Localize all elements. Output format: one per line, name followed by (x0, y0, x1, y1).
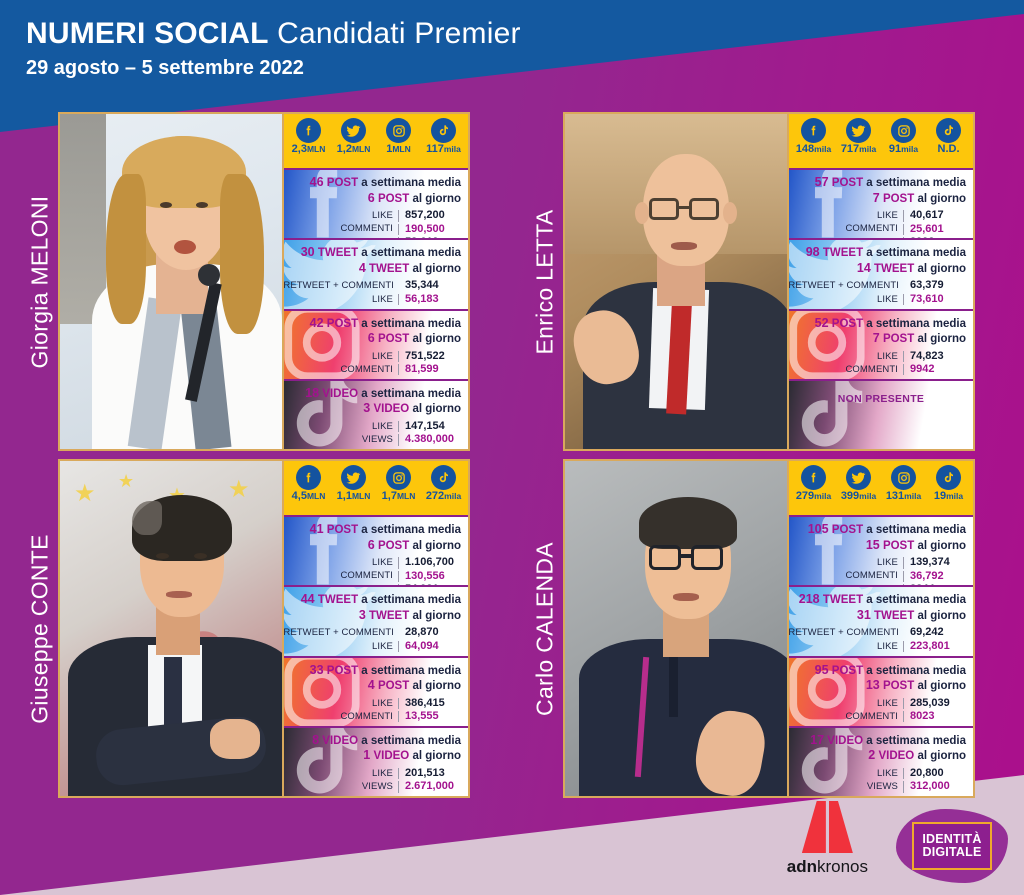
adnkronos-mark-right (829, 801, 853, 853)
follower-count: N.D. (938, 144, 960, 155)
metric-block-twitter: 98 TWEET a settimana media14 TWEET al gi… (789, 238, 973, 308)
metric-value: 386,415 (399, 697, 461, 710)
metric-block-tiktok: NON PRESENTE (789, 379, 973, 449)
metric-row: VIEWS4.380,000 (284, 433, 461, 446)
metric-label: COMMENTI (845, 364, 903, 376)
weekly-unit: TWEET (318, 247, 358, 259)
metric-label: VIEWS (867, 781, 903, 793)
follower-item-twitter[interactable]: 399mila (836, 465, 881, 502)
daily-count: 14 (857, 261, 871, 275)
metric-value: 20,800 (904, 767, 966, 780)
metric-rows: RETWEET + COMMENTI69,242LIKE223,801 (789, 626, 966, 653)
daily-unit: TWEET (874, 263, 914, 275)
metric-value: 130,556 (399, 570, 461, 583)
daily-count: 2 (868, 748, 875, 762)
candidate-panel: 2,3MLN1,2MLN1MLN117mila46 POST a settima… (58, 112, 470, 451)
follower-item-facebook[interactable]: 4,5MLN (286, 465, 331, 502)
metric-row: LIKE56,183 (284, 293, 461, 306)
daily-unit: TWEET (874, 610, 914, 622)
follower-count: 4,5MLN (292, 491, 326, 502)
metric-block-twitter: 218 TWEET a settimana media31 TWEET al g… (789, 585, 973, 655)
follower-count: 1MLN (386, 144, 411, 155)
candidate-name-text: Carlo CALENDA (532, 542, 559, 716)
block-content: 18 VIDEO a settimana media3 VIDEO al gio… (284, 381, 468, 447)
weekly-count: 30 (301, 245, 315, 259)
metric-row: CONDIVISIONI2992 (789, 236, 966, 238)
weekly-unit: POST (832, 177, 863, 189)
daily-unit: POST (378, 333, 409, 345)
daily-suffix: al giorno (409, 610, 461, 622)
candidate-name-text: Giorgia MELONI (27, 195, 54, 368)
daily-average: 14 TWEET al giorno (789, 261, 966, 277)
metric-block-instagram: 42 POST a settimana media6 POST al giorn… (284, 309, 468, 379)
metric-row: RETWEET + COMMENTI35,344 (284, 279, 461, 292)
follower-count: 19mila (934, 491, 963, 502)
metric-row: VIEWS2.671,000 (284, 780, 461, 793)
metric-rows: LIKE74,823COMMENTI9942 (789, 350, 966, 377)
follower-item-twitter[interactable]: 1,1MLN (331, 465, 376, 502)
follower-item-twitter[interactable]: 1,2MLN (331, 118, 376, 155)
weekly-average: 46 POST a settimana media (284, 175, 461, 191)
followers-bar: 148mila717mila91milaN.D. (789, 114, 973, 168)
adnkronos-mark-icon (802, 801, 853, 853)
daily-unit: POST (378, 540, 409, 552)
page-title-rest: Candidati Premier (269, 17, 521, 50)
daily-suffix: al giorno (409, 750, 461, 762)
metric-label: COMMENTI (845, 570, 903, 582)
metric-value: 285,039 (904, 697, 966, 710)
metric-row: LIKE386,415 (284, 697, 461, 710)
candidate-stats: 148mila717mila91milaN.D.57 POST a settim… (789, 114, 973, 449)
block-content: 57 POST a settimana media7 POST al giorn… (789, 170, 973, 238)
metric-row: COMMENTI36,792 (789, 570, 966, 583)
block-content: 46 POST a settimana media6 POST al giorn… (284, 170, 468, 238)
daily-average: 1 VIDEO al giorno (284, 748, 461, 764)
metric-row: LIKE74,823 (789, 350, 966, 363)
metric-value: 2.671,000 (399, 780, 461, 793)
facebook-icon (296, 118, 321, 143)
metric-value: 8023 (904, 710, 966, 723)
daily-suffix: al giorno (914, 750, 966, 762)
weekly-unit: TWEET (318, 594, 358, 606)
metric-label: LIKE (372, 641, 398, 653)
daily-count: 7 (873, 191, 880, 205)
weekly-unit: POST (832, 524, 863, 536)
candidate-card: Giorgia MELONI2,3MLN1,2MLN1MLN117mila46 … (22, 112, 470, 451)
metric-row: RETWEET + COMMENTI63,379 (789, 279, 966, 292)
daily-count: 6 (368, 191, 375, 205)
weekly-suffix: a settimana media (358, 177, 461, 189)
daily-average: 4 POST al giorno (284, 678, 461, 694)
footer-logos: adnkronos IDENTITÀ DIGITALE (787, 801, 998, 877)
weekly-average: 52 POST a settimana media (789, 316, 966, 332)
metric-row: RETWEET + COMMENTI69,242 (789, 626, 966, 639)
metric-row: VIEWS312,000 (789, 780, 966, 793)
daily-count: 1 (363, 748, 370, 762)
block-content: 33 POST a settimana media4 POST al giorn… (284, 658, 468, 724)
follower-count: 717mila (841, 144, 876, 155)
daily-unit: POST (883, 333, 914, 345)
follower-count: 91mila (889, 144, 918, 155)
metric-value: 857,200 (399, 209, 461, 222)
metric-row: LIKE751,522 (284, 350, 461, 363)
follower-item-facebook[interactable]: 148mila (791, 118, 836, 155)
daily-count: 4 (368, 678, 375, 692)
follower-item-facebook[interactable]: 2,3MLN (286, 118, 331, 155)
daily-average: 6 POST al giorno (284, 538, 461, 554)
metric-label: COMMENTI (340, 223, 398, 235)
weekly-suffix: a settimana media (863, 735, 966, 747)
metric-label: LIKE (372, 421, 398, 433)
daily-unit: POST (883, 680, 914, 692)
candidate-stats: 279mila399mila131mila19mila105 POST a se… (789, 461, 973, 796)
metric-row: COMMENTI81,599 (284, 363, 461, 376)
daily-average: 13 POST al giorno (789, 678, 966, 694)
weekly-unit: TWEET (823, 594, 863, 606)
weekly-suffix: a settimana media (358, 524, 461, 536)
metric-row: LIKE73,610 (789, 293, 966, 306)
daily-suffix: al giorno (914, 193, 966, 205)
adnkronos-mark-left (802, 801, 826, 853)
daily-count: 6 (368, 538, 375, 552)
metric-value: 35,344 (399, 279, 461, 292)
metric-value: 36,792 (904, 570, 966, 583)
weekly-average: 30 TWEET a settimana media (284, 245, 461, 261)
metric-value: 28,870 (399, 626, 461, 639)
page-title: NUMERI SOCIAL Candidati Premier (26, 18, 521, 50)
metric-rows: LIKE386,415COMMENTI13,555 (284, 697, 461, 724)
metric-label: CONDIVISIONI (831, 584, 903, 585)
weekly-suffix: a settimana media (358, 388, 461, 400)
metric-value: 139,374 (904, 556, 966, 569)
metric-block-facebook: 46 POST a settimana media6 POST al giorn… (284, 168, 468, 238)
metric-value: 73,610 (904, 293, 966, 306)
weekly-suffix: a settimana media (863, 524, 966, 536)
metric-block-tiktok: 17 VIDEO a settimana media2 VIDEO al gio… (789, 726, 973, 796)
weekly-average: 18 VIDEO a settimana media (284, 386, 461, 402)
metric-rows: RETWEET + COMMENTI63,379LIKE73,610 (789, 279, 966, 306)
metric-row: COMMENTI9942 (789, 363, 966, 376)
weekly-average: 218 TWEET a settimana media (789, 592, 966, 608)
metric-label: COMMENTI (845, 711, 903, 723)
follower-count: 2,3MLN (292, 144, 326, 155)
candidate-card: Carlo CALENDA279mila399mila131mila19mila… (527, 459, 975, 798)
daily-count: 3 (363, 401, 370, 415)
daily-suffix: al giorno (914, 263, 966, 275)
daily-average: 2 VIDEO al giorno (789, 748, 966, 764)
follower-item-facebook[interactable]: 279mila (791, 465, 836, 502)
facebook-icon (296, 465, 321, 490)
follower-count: 279mila (796, 491, 831, 502)
not-present-label: NON PRESENTE (789, 381, 973, 405)
daily-count: 3 (359, 608, 366, 622)
metric-label: VIEWS (362, 781, 398, 793)
block-content: 44 TWEET a settimana media3 TWEET al gio… (284, 587, 468, 653)
candidate-name-text: Giuseppe CONTE (27, 534, 54, 724)
instagram-icon (386, 465, 411, 490)
metric-row: CONDIVISIONI54,931 (284, 583, 461, 585)
metric-rows: RETWEET + COMMENTI35,344LIKE56,183 (284, 279, 461, 306)
facebook-icon (801, 118, 826, 143)
candidate-stats: 4,5MLN1,1MLN1,7MLN272mila41 POST a setti… (284, 461, 468, 796)
metric-row: RETWEET + COMMENTI28,870 (284, 626, 461, 639)
weekly-unit: POST (327, 177, 358, 189)
metric-rows: RETWEET + COMMENTI28,870LIKE64,094 (284, 626, 461, 653)
metric-value: 312,000 (904, 780, 966, 793)
weekly-suffix: a settimana media (863, 594, 966, 606)
tiktok-icon (936, 118, 961, 143)
daily-suffix: al giorno (914, 680, 966, 692)
metric-block-instagram: 95 POST a settimana media13 POST al gior… (789, 656, 973, 726)
metric-row: LIKE857,200 (284, 209, 461, 222)
follower-item-instagram[interactable]: 91mila (881, 118, 926, 155)
instagram-icon (386, 118, 411, 143)
candidate-photo (565, 461, 789, 796)
metric-label: LIKE (372, 210, 398, 222)
follower-item-instagram[interactable]: 1MLN (376, 118, 421, 155)
metric-rows: LIKE1.106,700COMMENTI130,556CONDIVISIONI… (284, 556, 461, 585)
weekly-unit: POST (327, 318, 358, 330)
weekly-count: 57 (815, 175, 829, 189)
tiktok-icon (431, 465, 456, 490)
metric-value: 63,379 (904, 279, 966, 292)
metric-value: 8844 (904, 583, 966, 585)
metric-row: LIKE20,800 (789, 767, 966, 780)
weekly-average: 105 POST a settimana media (789, 522, 966, 538)
weekly-suffix: a settimana media (863, 665, 966, 677)
candidate-name-text: Enrico LETTA (532, 209, 559, 354)
weekly-average: 98 TWEET a settimana media (789, 245, 966, 261)
follower-item-tiktok[interactable]: N.D. (926, 118, 971, 155)
metric-label: COMMENTI (340, 711, 398, 723)
weekly-count: 17 (810, 733, 824, 747)
metric-block-instagram: 33 POST a settimana media4 POST al giorn… (284, 656, 468, 726)
weekly-average: 44 TWEET a settimana media (284, 592, 461, 608)
weekly-count: 95 (815, 663, 829, 677)
weekly-count: 8 (312, 733, 319, 747)
daily-suffix: al giorno (914, 333, 966, 345)
metric-label: LIKE (372, 768, 398, 780)
metric-row: LIKE285,039 (789, 697, 966, 710)
daily-unit: TWEET (369, 610, 409, 622)
daily-average: 3 VIDEO al giorno (284, 401, 461, 417)
follower-count: 1,1MLN (337, 491, 371, 502)
instagram-icon (891, 465, 916, 490)
weekly-suffix: a settimana media (358, 318, 461, 330)
metric-value: 1.106,700 (399, 556, 461, 569)
metric-value: 147,154 (399, 420, 461, 433)
adnkronos-wordmark: adnkronos (787, 857, 868, 877)
candidate-panel: 148mila717mila91milaN.D.57 POST a settim… (563, 112, 975, 451)
weekly-count: 46 (310, 175, 324, 189)
weekly-average: 33 POST a settimana media (284, 663, 461, 679)
metric-label: LIKE (877, 641, 903, 653)
metric-label: RETWEET + COMMENTI (284, 280, 399, 292)
candidate-card: Enrico LETTA148mila717mila91milaN.D.57 P… (527, 112, 975, 451)
block-content: 98 TWEET a settimana media14 TWEET al gi… (789, 240, 973, 306)
header: NUMERI SOCIAL Candidati Premier 29 agost… (26, 18, 521, 80)
metric-block-tiktok: 8 VIDEO a settimana media1 VIDEO al gior… (284, 726, 468, 796)
metric-value: 81,599 (399, 363, 461, 376)
metric-label: LIKE (877, 768, 903, 780)
metric-block-twitter: 44 TWEET a settimana media3 TWEET al gio… (284, 585, 468, 655)
weekly-suffix: a settimana media (358, 247, 461, 259)
daily-count: 31 (857, 608, 871, 622)
weekly-count: 105 (808, 522, 829, 536)
daily-count: 7 (873, 331, 880, 345)
candidate-name-label: Giorgia MELONI (22, 112, 58, 451)
follower-item-instagram[interactable]: 1,7MLN (376, 465, 421, 502)
metric-row: LIKE147,154 (284, 420, 461, 433)
block-content: 105 POST a settimana media15 POST al gio… (789, 517, 973, 585)
daily-unit: POST (883, 193, 914, 205)
metric-row: LIKE223,801 (789, 640, 966, 653)
metric-value: 69,242 (904, 626, 966, 639)
daily-average: 6 POST al giorno (284, 331, 461, 347)
weekly-count: 52 (815, 316, 829, 330)
daily-suffix: al giorno (409, 333, 461, 345)
metric-label: CONDIVISIONI (831, 237, 903, 238)
metric-value: 13,555 (399, 710, 461, 723)
followers-bar: 4,5MLN1,1MLN1,7MLN272mila (284, 461, 468, 515)
daily-suffix: al giorno (409, 263, 461, 275)
daily-count: 6 (368, 331, 375, 345)
metric-label: COMMENTI (845, 223, 903, 235)
adnkronos-wordmark-bold: adn (787, 857, 817, 876)
block-content: 52 POST a settimana media7 POST al giorn… (789, 311, 973, 377)
daily-average: 3 TWEET al giorno (284, 608, 461, 624)
metric-value: 9942 (904, 363, 966, 376)
daily-average: 15 POST al giorno (789, 538, 966, 554)
metric-block-facebook: 41 POST a settimana media6 POST al giorn… (284, 515, 468, 585)
candidate-photo (565, 114, 789, 449)
metric-label: LIKE (877, 210, 903, 222)
weekly-count: 98 (806, 245, 820, 259)
follower-item-tiktok[interactable]: 117mila (421, 118, 466, 155)
daily-unit: TWEET (369, 263, 409, 275)
daily-unit: VIDEO (373, 403, 409, 415)
weekly-suffix: a settimana media (863, 318, 966, 330)
followers-bar: 279mila399mila131mila19mila (789, 461, 973, 515)
daily-count: 4 (359, 261, 366, 275)
metric-label: COMMENTI (340, 364, 398, 376)
metric-row: LIKE64,094 (284, 640, 461, 653)
weekly-unit: POST (327, 665, 358, 677)
metric-row: LIKE1.106,700 (284, 556, 461, 569)
candidate-photo (60, 114, 284, 449)
metric-rows: LIKE751,522COMMENTI81,599 (284, 350, 461, 377)
metric-row: LIKE139,374 (789, 556, 966, 569)
weekly-average: 8 VIDEO a settimana media (284, 733, 461, 749)
daily-suffix: al giorno (409, 540, 461, 552)
metric-label: RETWEET + COMMENTI (789, 280, 904, 292)
metric-rows: LIKE147,154VIEWS4.380,000 (284, 420, 461, 447)
weekly-average: 95 POST a settimana media (789, 663, 966, 679)
daily-count: 13 (866, 678, 880, 692)
metric-label: RETWEET + COMMENTI (789, 627, 904, 639)
metric-value: 64,094 (399, 640, 461, 653)
follower-count: 1,7MLN (382, 491, 416, 502)
follower-item-twitter[interactable]: 717mila (836, 118, 881, 155)
metric-rows: LIKE139,374COMMENTI36,792CONDIVISIONI884… (789, 556, 966, 585)
weekly-count: 41 (310, 522, 324, 536)
metric-label: LIKE (372, 557, 398, 569)
daily-average: 7 POST al giorno (789, 331, 966, 347)
daily-unit: POST (378, 193, 409, 205)
candidate-photo: ★★★★0 (60, 461, 284, 796)
metric-label: RETWEET + COMMENTI (284, 627, 399, 639)
date-range: 29 agosto – 5 settembre 2022 (26, 57, 521, 80)
twitter-icon (341, 118, 366, 143)
tiktok-icon (936, 465, 961, 490)
candidate-name-label: Giuseppe CONTE (22, 459, 58, 798)
candidate-name-label: Enrico LETTA (527, 112, 563, 451)
metric-rows: LIKE201,513VIEWS2.671,000 (284, 767, 461, 794)
metric-block-facebook: 105 POST a settimana media15 POST al gio… (789, 515, 973, 585)
metric-rows: LIKE857,200COMMENTI190,500CONDIVISIONI53… (284, 209, 461, 238)
metric-value: 223,801 (904, 640, 966, 653)
follower-item-instagram[interactable]: 131mila (881, 465, 926, 502)
candidate-panel: 279mila399mila131mila19mila105 POST a se… (563, 459, 975, 798)
metric-label: LIKE (877, 557, 903, 569)
candidate-stats: 2,3MLN1,2MLN1MLN117mila46 POST a settima… (284, 114, 468, 449)
metric-rows: LIKE40,617COMMENTI25,601CONDIVISIONI2992 (789, 209, 966, 238)
instagram-icon (891, 118, 916, 143)
metric-block-twitter: 30 TWEET a settimana media4 TWEET al gio… (284, 238, 468, 308)
metric-row: COMMENTI13,555 (284, 710, 461, 723)
follower-item-tiktok[interactable]: 272mila (421, 465, 466, 502)
weekly-count: 18 (305, 386, 319, 400)
candidate-panel: ★★★★04,5MLN1,1MLN1,7MLN272mila41 POST a … (58, 459, 470, 798)
daily-average: 31 TWEET al giorno (789, 608, 966, 624)
daily-suffix: al giorno (409, 680, 461, 692)
daily-suffix: al giorno (914, 610, 966, 622)
daily-unit: POST (378, 680, 409, 692)
follower-count: 272mila (426, 491, 461, 502)
follower-item-tiktok[interactable]: 19mila (926, 465, 971, 502)
weekly-unit: POST (327, 524, 358, 536)
metric-block-tiktok: 18 VIDEO a settimana media3 VIDEO al gio… (284, 379, 468, 449)
metric-value: 74,823 (904, 350, 966, 363)
metric-value: 53,619 (399, 236, 461, 238)
metric-row: LIKE40,617 (789, 209, 966, 222)
metric-value: 751,522 (399, 350, 461, 363)
metric-value: 190,500 (399, 223, 461, 236)
follower-count: 131mila (886, 491, 921, 502)
weekly-unit: TWEET (823, 247, 863, 259)
metric-rows: LIKE285,039COMMENTI8023 (789, 697, 966, 724)
metric-label: LIKE (372, 698, 398, 710)
weekly-average: 57 POST a settimana media (789, 175, 966, 191)
page-title-bold: NUMERI SOCIAL (26, 17, 269, 50)
metric-value: 4.380,000 (399, 433, 461, 446)
daily-unit: VIDEO (373, 750, 409, 762)
weekly-unit: VIDEO (827, 735, 863, 747)
metric-label: LIKE (877, 294, 903, 306)
metric-row: COMMENTI8023 (789, 710, 966, 723)
daily-average: 6 POST al giorno (284, 191, 461, 207)
followers-bar: 2,3MLN1,2MLN1MLN117mila (284, 114, 468, 168)
block-content: 95 POST a settimana media13 POST al gior… (789, 658, 973, 724)
follower-count: 1,2MLN (337, 144, 371, 155)
metric-row: COMMENTI190,500 (284, 223, 461, 236)
daily-count: 15 (866, 538, 880, 552)
twitter-icon (846, 118, 871, 143)
follower-count: 148mila (796, 144, 831, 155)
metric-rows: LIKE20,800VIEWS312,000 (789, 767, 966, 794)
weekly-unit: POST (832, 318, 863, 330)
weekly-count: 33 (310, 663, 324, 677)
